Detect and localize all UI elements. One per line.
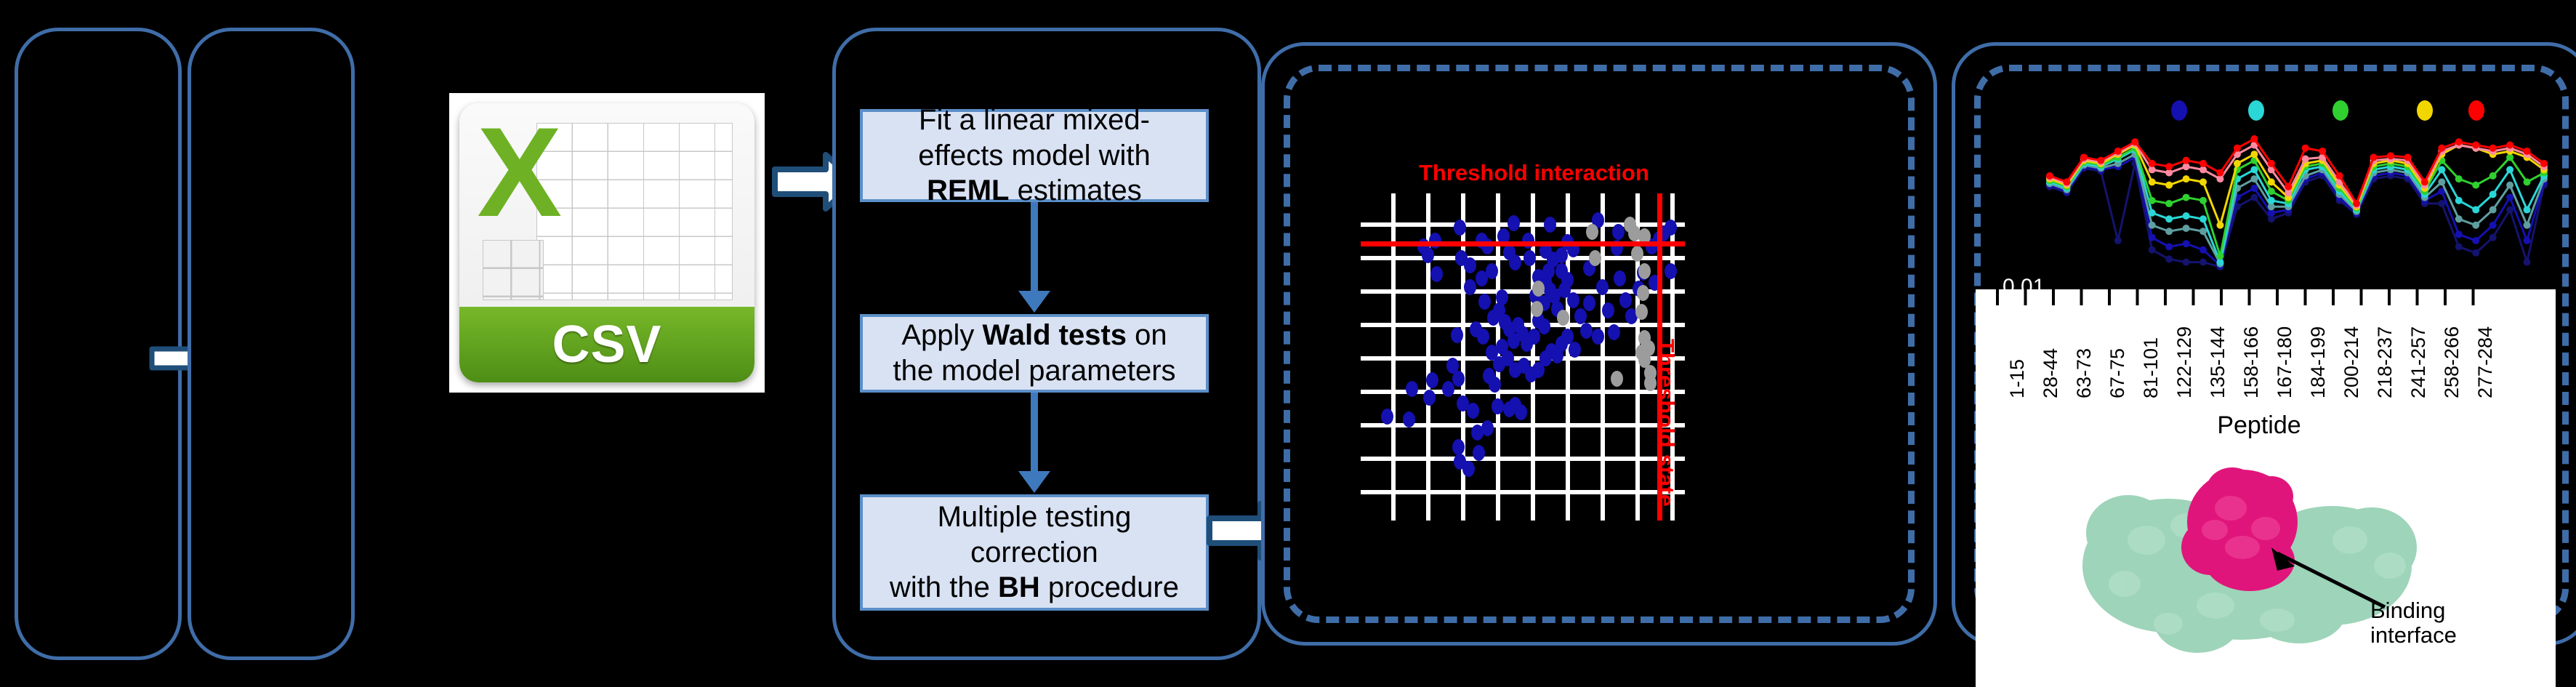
figure-canvas: X CSV Fit a linear mixed- effects model … [0, 0, 2576, 687]
peptide-line-chart [2042, 127, 2551, 273]
csv-spreadsheet-grid-secondary [483, 240, 543, 300]
fit-model-line-2: effects model with [918, 138, 1150, 174]
wald-line-1: Apply Wald tests on [893, 318, 1175, 353]
bh-correction-box[interactable]: Multiple testing correction with the BH … [860, 494, 1209, 611]
peptide-line-chart-svg [2042, 127, 2551, 273]
binding-interface-annotation: Binding interface [2370, 598, 2457, 648]
peptide-tick-label: 200-214 [2340, 326, 2363, 398]
fit-model-line-3-rest: estimates [1010, 174, 1142, 206]
stage-panel-csv [188, 28, 355, 660]
peptide-axis-ticks [1996, 289, 2497, 305]
bh-line-2: correction [890, 535, 1179, 571]
peptide-tick-label: 28-44 [2040, 348, 2062, 398]
results-white-card: 1-1528-4463-7367-7581-101122-129135-1441… [1976, 289, 2556, 687]
peptide-tick-label: 158-166 [2240, 326, 2263, 398]
bh-line-3-post: procedure [1040, 571, 1179, 603]
peptide-tick-label: 63-73 [2073, 348, 2096, 398]
peptide-tick-label: 258-266 [2441, 326, 2463, 398]
legend-dot-red [2468, 100, 2484, 121]
peptide-tick-label: 277-284 [2474, 326, 2497, 398]
legend-dot-yellow [2417, 100, 2433, 121]
peptide-tick-label: 241-257 [2407, 326, 2430, 398]
csv-spreadsheet-grid [536, 123, 733, 300]
peptide-tick-label: 135-144 [2207, 326, 2229, 398]
wald-tests-box[interactable]: Apply Wald tests on the model parameters [860, 314, 1209, 393]
connector-fit-to-wald-arrowhead [1018, 291, 1050, 313]
peptide-tick-label: 67-75 [2106, 348, 2129, 398]
wald-line-1-pre: Apply [901, 319, 982, 351]
peptide-tick-label: 1-15 [2006, 359, 2029, 398]
peptide-tick-label: 81-101 [2140, 337, 2162, 398]
wald-keyword: Wald tests [983, 319, 1127, 351]
bh-line-1: Multiple testing [890, 499, 1179, 535]
threshold-state-label: Threshold state [1653, 339, 1679, 507]
csv-file-icon: X CSV [449, 93, 765, 393]
bh-keyword: BH [998, 571, 1040, 603]
excel-x-icon: X [477, 109, 562, 236]
volcano-scatter-plot [1361, 193, 1685, 521]
legend-dot-cyan [2248, 100, 2264, 121]
threshold-interaction-label: Threshold interaction [1419, 160, 1649, 186]
binding-interface-line-1: Binding [2370, 598, 2457, 623]
wald-line-2: the model parameters [893, 353, 1175, 389]
binding-interface-line-2: interface [2370, 623, 2457, 648]
peptide-tick-label: 184-199 [2307, 326, 2330, 398]
bh-line-3: with the BH procedure [890, 570, 1179, 606]
reml-keyword: REML [927, 174, 1009, 206]
peptide-tick-label: 122-129 [2173, 326, 2196, 398]
connector-fit-to-wald [1031, 202, 1038, 304]
fit-model-line-1: Fit a linear mixed- [918, 103, 1150, 138]
fit-model-box[interactable]: Fit a linear mixed- effects model with R… [860, 109, 1209, 202]
peptide-tick-label: 167-180 [2274, 326, 2296, 398]
connector-wald-to-bh-arrowhead [1018, 471, 1050, 493]
csv-label: CSV [459, 307, 754, 382]
bh-line-3-pre: with the [890, 571, 998, 603]
peptide-axis-title: Peptide [2165, 411, 2354, 440]
wald-line-1-post: on [1127, 319, 1167, 351]
legend-dot-green [2333, 100, 2348, 121]
threshold-interaction-line [1361, 241, 1685, 246]
peptide-tick-label: 218-237 [2374, 326, 2396, 398]
legend-dot-blue [2171, 100, 2187, 121]
